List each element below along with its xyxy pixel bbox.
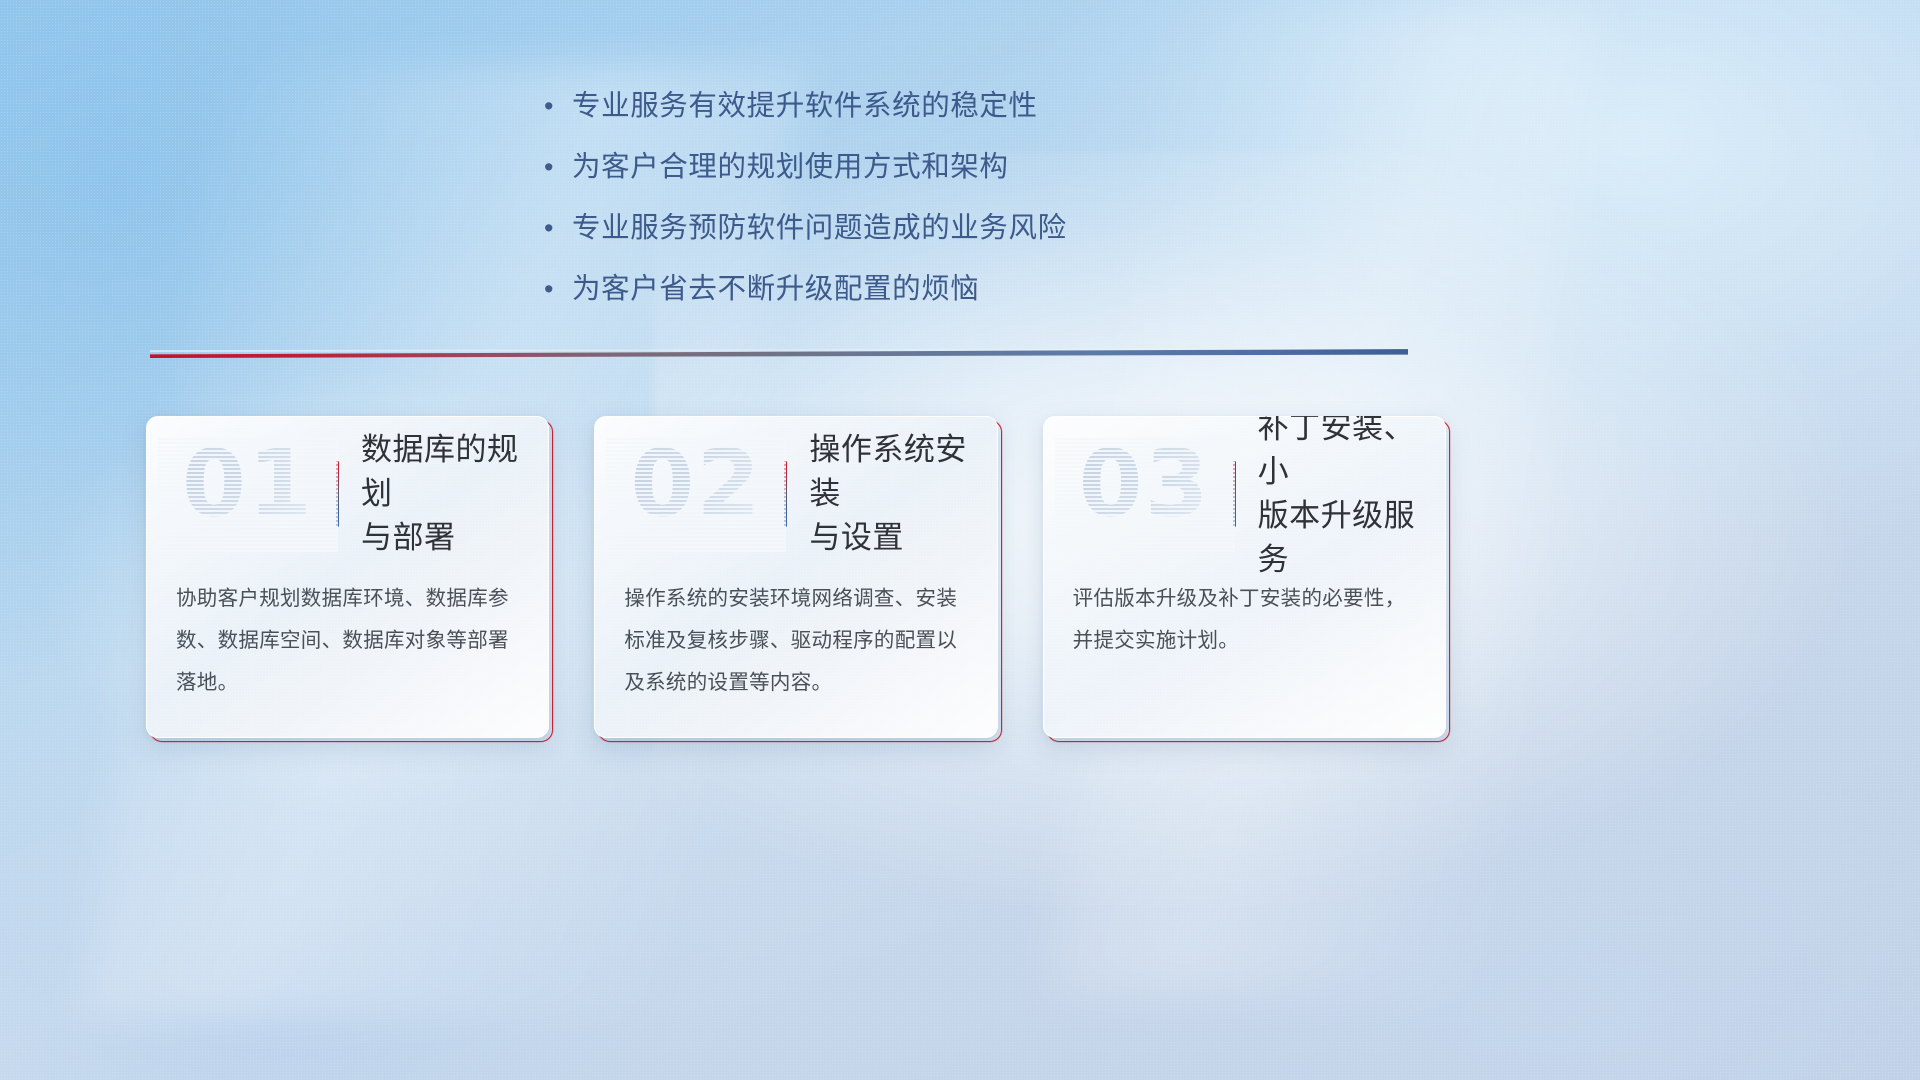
card-number-text: 01 <box>164 432 332 536</box>
card-number-badge: 01 <box>164 442 332 546</box>
list-item: • 为客户合理的规划使用方式和架构 <box>538 147 1438 187</box>
service-card-01[interactable]: 01 数据库的规划 与部署 协助客户规划数据库环境、数据库参数、数据库空间、数据… <box>150 420 553 742</box>
card-header: 03 补丁安装、小 版本升级服务 <box>1043 434 1446 554</box>
service-card-02[interactable]: 02 操作系统安装 与设置 操作系统的安装环境网络调查、安装标准及复核步骤、驱动… <box>598 420 1001 742</box>
bullet-dot-icon: • <box>538 269 572 309</box>
bullet-text: 为客户合理的规划使用方式和架构 <box>572 147 1009 187</box>
list-item: • 专业服务有效提升软件系统的稳定性 <box>538 86 1438 126</box>
card-title-accent-bar <box>336 461 339 527</box>
card-title-accent-bar <box>1233 461 1236 527</box>
card-title-line2: 与设置 <box>809 516 997 560</box>
list-item: • 为客户省去不断升级配置的烦恼 <box>538 269 1438 309</box>
card-number-badge: 03 <box>1061 442 1229 546</box>
bullet-text: 专业服务有效提升软件系统的稳定性 <box>572 86 1038 126</box>
card-number-badge: 02 <box>612 442 780 546</box>
benefits-bullet-list: • 专业服务有效提升软件系统的稳定性 • 为客户合理的规划使用方式和架构 • 专… <box>538 86 1438 330</box>
list-item: • 专业服务预防软件问题造成的业务风险 <box>538 208 1438 248</box>
card-title-line2: 与部署 <box>361 516 549 560</box>
service-card-group: 01 数据库的规划 与部署 协助客户规划数据库环境、数据库参数、数据库空间、数据… <box>150 420 1450 743</box>
card-header: 02 操作系统安装 与设置 <box>594 434 997 554</box>
bullet-text: 专业服务预防软件问题造成的业务风险 <box>572 208 1067 248</box>
card-description: 协助客户规划数据库环境、数据库参数、数据库空间、数据库对象等部署落地。 <box>176 578 523 704</box>
card-title-accent-bar <box>784 461 787 527</box>
bullet-dot-icon: • <box>538 86 572 126</box>
card-title: 数据库的规划 与部署 <box>361 428 549 560</box>
card-title-line1: 数据库的规划 <box>361 428 549 516</box>
card-content: 03 补丁安装、小 版本升级服务 评估版本升级及补丁安装的必要性，并提交实施计划… <box>1043 416 1446 738</box>
card-title: 补丁安装、小 版本升级服务 <box>1258 416 1446 582</box>
card-description: 评估版本升级及补丁安装的必要性，并提交实施计划。 <box>1073 578 1420 662</box>
bullet-dot-icon: • <box>538 208 572 248</box>
service-card-03[interactable]: 03 补丁安装、小 版本升级服务 评估版本升级及补丁安装的必要性，并提交实施计划… <box>1047 420 1450 742</box>
bullet-dot-icon: • <box>538 147 572 187</box>
card-title-line1: 补丁安装、小 <box>1258 416 1446 494</box>
card-description: 操作系统的安装环境网络调查、安装标准及复核步骤、驱动程序的配置以及系统的设置等内… <box>624 578 971 704</box>
card-header: 01 数据库的规划 与部署 <box>146 434 549 554</box>
card-number-text: 03 <box>1061 432 1229 536</box>
card-title-line2: 版本升级服务 <box>1258 494 1446 582</box>
bullet-text: 为客户省去不断升级配置的烦恼 <box>572 269 979 309</box>
card-content: 01 数据库的规划 与部署 协助客户规划数据库环境、数据库参数、数据库空间、数据… <box>146 416 549 738</box>
slide-root: • 专业服务有效提升软件系统的稳定性 • 为客户合理的规划使用方式和架构 • 专… <box>0 0 1920 1080</box>
card-content: 02 操作系统安装 与设置 操作系统的安装环境网络调查、安装标准及复核步骤、驱动… <box>594 416 997 738</box>
card-title-line1: 操作系统安装 <box>809 428 997 516</box>
section-divider <box>150 344 1408 364</box>
card-number-text: 02 <box>612 432 780 536</box>
card-title: 操作系统安装 与设置 <box>809 428 997 560</box>
